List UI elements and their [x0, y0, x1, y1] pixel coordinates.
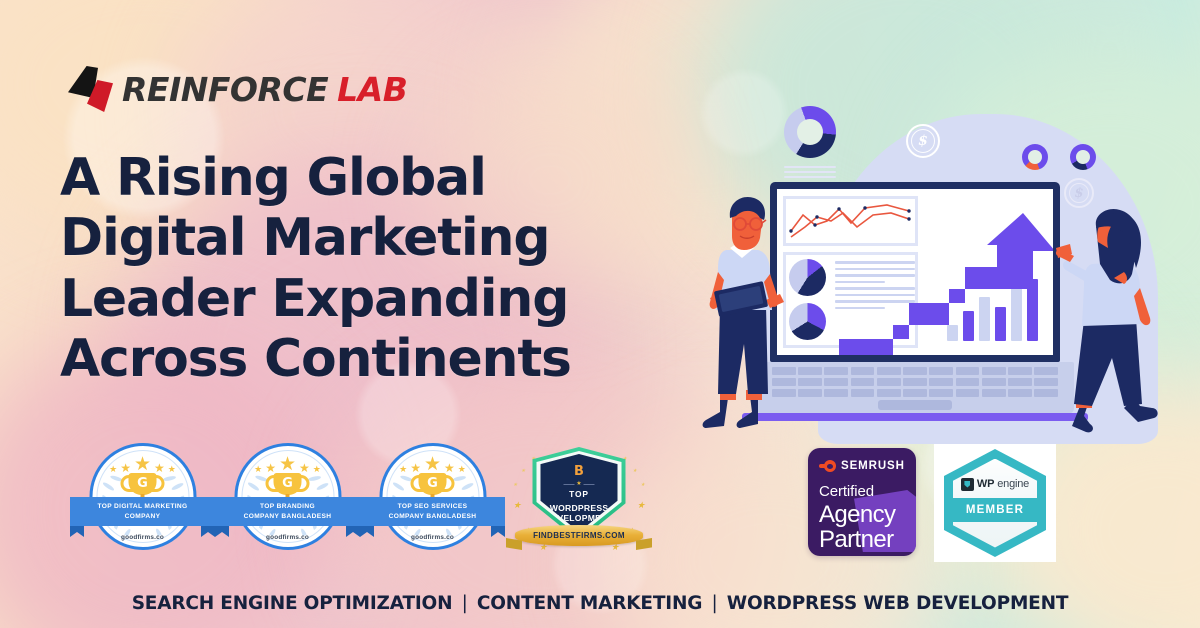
dashboard-view — [777, 189, 1053, 355]
badge-source-label: goodfirms.co — [266, 534, 309, 541]
badge-line-1: Certified — [819, 484, 895, 501]
badge-wpengine-member[interactable]: WP engine MEMBER — [934, 444, 1056, 562]
badge-title-line-1: TOP DIGITAL MARKETING — [97, 502, 187, 511]
headline-line-2: Digital Marketing — [60, 208, 700, 268]
badge-text-block: Certified Agency Partner — [819, 484, 895, 552]
badge-line-2: Agency — [819, 502, 895, 527]
badge-title-line-2: COMPANY — [125, 512, 161, 521]
brand-wordmark: REINFORCE LAB — [122, 70, 407, 109]
page-title: A Rising Global Digital Marketing Leader… — [60, 148, 700, 389]
laptop-trackpad — [878, 400, 952, 410]
service-item-wordpress: WORDPRESS WEB DEVELOPMENT — [727, 593, 1069, 614]
brand-name-primary: REINFORCE — [122, 70, 328, 109]
badge-line-3: Partner — [819, 527, 895, 552]
goodfirms-monogram: G — [426, 477, 439, 491]
badge-title-line-2: COMPANY BANGLADESH — [244, 512, 332, 521]
headline-line-3: Leader Expanding — [60, 269, 700, 329]
semrush-comet-icon — [819, 460, 836, 472]
badge-rank-label: TOP — [569, 489, 589, 499]
donut-chart-icon — [784, 106, 836, 158]
laptop-screen — [770, 182, 1060, 362]
digital-marketing-growth-illustration: $ $ — [688, 96, 1198, 446]
status-badge: MEMBER — [966, 504, 1024, 516]
male-analyst-with-tablet — [696, 194, 796, 430]
headline-line-4: Across Continents — [60, 329, 700, 389]
goodfirms-monogram: G — [136, 477, 149, 491]
laptop-base — [756, 362, 1074, 414]
star-divider-icon: ★ — [563, 481, 594, 487]
badge-title-line-2: COMPANY BANGLADESH — [389, 512, 477, 521]
star-rating-icon: ★★★★★ — [254, 455, 321, 474]
service-item-seo: SEARCH ENGINE OPTIMIZATION — [132, 593, 453, 614]
findbestfirms-monogram: B — [574, 465, 584, 478]
ring-chart-icon — [1022, 144, 1048, 170]
semrush-logo: SEMRUSH — [819, 460, 905, 472]
service-separator: | — [459, 593, 471, 614]
reinforce-arrow-mark-icon — [68, 66, 116, 112]
goodfirms-monogram: G — [281, 477, 294, 491]
headline-line-1: A Rising Global — [60, 148, 700, 208]
badge-source-label: goodfirms.co — [411, 534, 454, 541]
dollar-coin-icon: $ — [1064, 178, 1094, 208]
star-rating-icon: ★★★★★ — [399, 455, 466, 474]
wpengine-wordmark-bold: WP — [977, 478, 994, 490]
badge-source-label: FINDBESTFIRMS.COM — [533, 531, 625, 540]
star-rating-icon: ★★★★★ — [109, 455, 176, 474]
services-list: SEARCH ENGINE OPTIMIZATION | CONTENT MAR… — [0, 593, 1200, 614]
badge-source-label: goodfirms.co — [121, 534, 164, 541]
badge-category-line-1: WORDPRESS — [550, 503, 609, 513]
brand-logo[interactable]: REINFORCE LAB — [68, 66, 407, 112]
brand-name-accent: LAB — [337, 70, 407, 109]
badge-ribbon: TOP BRANDING COMPANY BANGLADESH — [215, 497, 360, 526]
badge-ribbon: TOP DIGITAL MARKETING COMPANY — [70, 497, 215, 526]
wpengine-logo: WP engine — [961, 478, 1029, 491]
service-item-content-marketing: CONTENT MARKETING — [477, 593, 702, 614]
female-analyst-pointing — [1062, 208, 1174, 434]
wpengine-mark-icon — [961, 478, 974, 491]
wpengine-wordmark-light: engine — [997, 478, 1029, 490]
badge-title-line-1: TOP SEO SERVICES — [398, 502, 468, 511]
hexagon-badge-icon: WP engine MEMBER — [944, 449, 1046, 557]
upward-growth-arrow — [837, 211, 1053, 355]
semrush-wordmark: SEMRUSH — [841, 460, 905, 472]
badge-status-band: MEMBER — [953, 498, 1037, 522]
award-badges: ★★★★★ G goodfirms.co TOP DIGITAL MARKETI… — [70, 443, 649, 561]
dollar-coin-icon: $ — [906, 124, 940, 158]
service-separator: | — [708, 593, 720, 614]
badge-findbestfirms-wordpress[interactable]: ★ ★ ★ ★ ★ ★ ★ ★ ★ ★ ★ ★ B ★ — [509, 443, 649, 561]
badge-ribbon: TOP SEO SERVICES COMPANY BANGLADESH — [360, 497, 505, 526]
badge-goodfirms-digital-marketing[interactable]: ★★★★★ G goodfirms.co TOP DIGITAL MARKETI… — [70, 443, 215, 561]
laptop-keyboard — [772, 367, 1058, 397]
badge-ribbon: FINDBESTFIRMS.COM — [515, 525, 643, 546]
donut-chart-caption-lines — [784, 166, 836, 181]
badge-goodfirms-seo[interactable]: ★★★★★ G goodfirms.co TOP SEO SERVICES CO… — [360, 443, 505, 561]
promo-banner: REINFORCE LAB A Rising Global Digital Ma… — [0, 0, 1200, 628]
ring-chart-icon — [1070, 144, 1096, 170]
badge-goodfirms-branding[interactable]: ★★★★★ G goodfirms.co TOP BRANDING COMPAN… — [215, 443, 360, 561]
badge-title-line-1: TOP BRANDING — [260, 502, 315, 511]
analytics-dashboard-laptop — [770, 182, 1060, 430]
badge-semrush-certified-agency-partner[interactable]: SEMRUSH Certified Agency Partner — [808, 448, 916, 556]
